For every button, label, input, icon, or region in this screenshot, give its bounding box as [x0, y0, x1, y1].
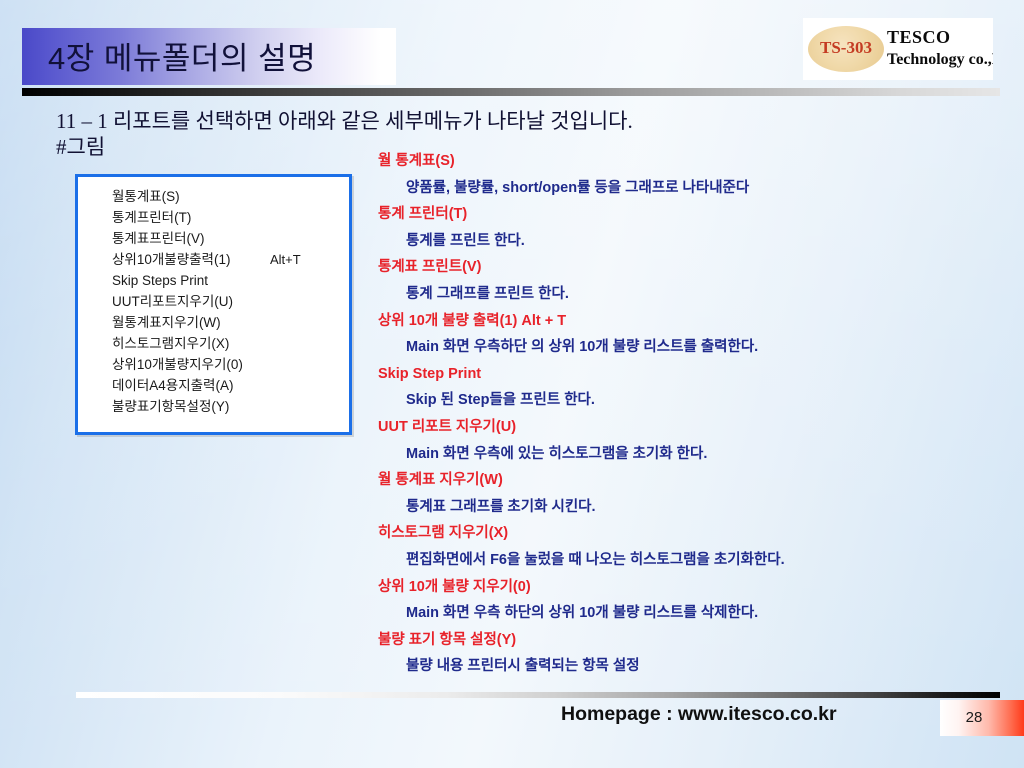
subtitle-figure-label: #그림	[56, 131, 105, 161]
menu-item-label: 히스토그램지우기(X)	[112, 336, 229, 351]
page-title: 4장 메뉴폴더의 설명	[48, 33, 316, 78]
menu-item-label: 데이터A4용지출력(A)	[112, 378, 233, 393]
description-body: 통계표 그래프를 초기화 시킨다.	[378, 494, 978, 521]
menu-item[interactable]: 데이터A4용지출력(A)	[112, 375, 344, 396]
menu-item-label: UUT리포트지우기(U)	[112, 294, 233, 309]
menu-item[interactable]: 통계프린터(T)	[112, 207, 344, 228]
description-body: 편집화면에서 F6을 눌렀을 때 나오는 히스토그램을 초기화한다.	[378, 547, 978, 574]
description-heading: 불량 표기 항목 설정(Y)	[378, 627, 978, 654]
menu-item-label: 상위10개불량지우기(0)	[112, 357, 243, 372]
menu-item[interactable]: Skip Steps Print	[112, 270, 344, 291]
description-body: Skip 된 Step들을 프린트 한다.	[378, 387, 978, 414]
menu-item[interactable]: 통계표프린터(V)	[112, 228, 344, 249]
description-heading: 상위 10개 불량 지우기(0)	[378, 574, 978, 601]
menu-item-label: 불량표기항목설정(Y)	[112, 399, 229, 414]
logo-model-code: TS-303	[813, 38, 879, 58]
description-heading: 통계표 프린트(V)	[378, 254, 978, 281]
description-body: 통계 그래프를 프린트 한다.	[378, 281, 978, 308]
menu-item[interactable]: 월통계표지우기(W)	[112, 312, 344, 333]
description-body: Main 화면 우측 하단의 상위 10개 불량 리스트를 삭제한다.	[378, 600, 978, 627]
description-heading: 통계 프린터(T)	[378, 201, 978, 228]
menu-item[interactable]: 상위10개불량출력(1)Alt+T	[112, 249, 344, 270]
subtitle-primary: 11 – 1 리포트를 선택하면 아래와 같은 세부메뉴가 나타날 것입니다.	[56, 105, 633, 135]
menu-item[interactable]: 히스토그램지우기(X)	[112, 333, 344, 354]
logo-company-suffix: Technology co.,Ltd	[887, 51, 993, 69]
menu-item-shortcut: Alt+T	[270, 249, 301, 270]
description-heading: 히스토그램 지우기(X)	[378, 520, 978, 547]
menu-item-label: 월통계표(S)	[112, 189, 180, 204]
description-heading: 상위 10개 불량 출력(1) Alt + T	[378, 308, 978, 335]
logo-company-name: TESCO	[887, 27, 951, 48]
description-heading: UUT 리포트 지우기(U)	[378, 414, 978, 441]
description-heading: 월 통계표(S)	[378, 148, 978, 175]
menu-screenshot-panel: 월통계표(S)통계프린터(T)통계표프린터(V)상위10개불량출력(1)Alt+…	[75, 174, 352, 435]
menu-item-list: 월통계표(S)통계프린터(T)통계표프린터(V)상위10개불량출력(1)Alt+…	[112, 186, 344, 417]
menu-item-label: 통계표프린터(V)	[112, 231, 205, 246]
menu-item-label: 월통계표지우기(W)	[112, 315, 221, 330]
description-body: 양품률, 불량률, short/open률 등을 그래프로 나타내준다	[378, 175, 978, 202]
footer-divider	[76, 692, 1000, 698]
footer-homepage: Homepage : www.itesco.co.kr	[561, 703, 837, 726]
slide-canvas: 4장 메뉴폴더의 설명 TS-303 TESCO Technology co.,…	[0, 0, 1024, 768]
company-logo: TS-303 TESCO Technology co.,Ltd	[803, 18, 993, 80]
menu-item[interactable]: UUT리포트지우기(U)	[112, 291, 344, 312]
menu-item-label: 상위10개불량출력(1)	[112, 252, 230, 267]
menu-item[interactable]: 월통계표(S)	[112, 186, 344, 207]
description-body: 불량 내용 프린터시 출력되는 항목 설정	[378, 653, 978, 680]
description-list: 월 통계표(S)양품률, 불량률, short/open률 등을 그래프로 나타…	[378, 148, 978, 680]
description-body: Main 화면 우측하단 의 상위 10개 불량 리스트를 출력한다.	[378, 334, 978, 361]
page-number-label: 28	[940, 709, 1008, 726]
header-divider	[22, 88, 1000, 96]
description-heading: Skip Step Print	[378, 361, 978, 388]
menu-item[interactable]: 상위10개불량지우기(0)	[112, 354, 344, 375]
menu-item-label: 통계프린터(T)	[112, 210, 191, 225]
menu-item-label: Skip Steps Print	[112, 273, 208, 288]
description-body: Main 화면 우측에 있는 히스토그램을 초기화 한다.	[378, 441, 978, 468]
description-heading: 월 통계표 지우기(W)	[378, 467, 978, 494]
description-body: 통계를 프린트 한다.	[378, 228, 978, 255]
menu-item[interactable]: 불량표기항목설정(Y)	[112, 396, 344, 417]
